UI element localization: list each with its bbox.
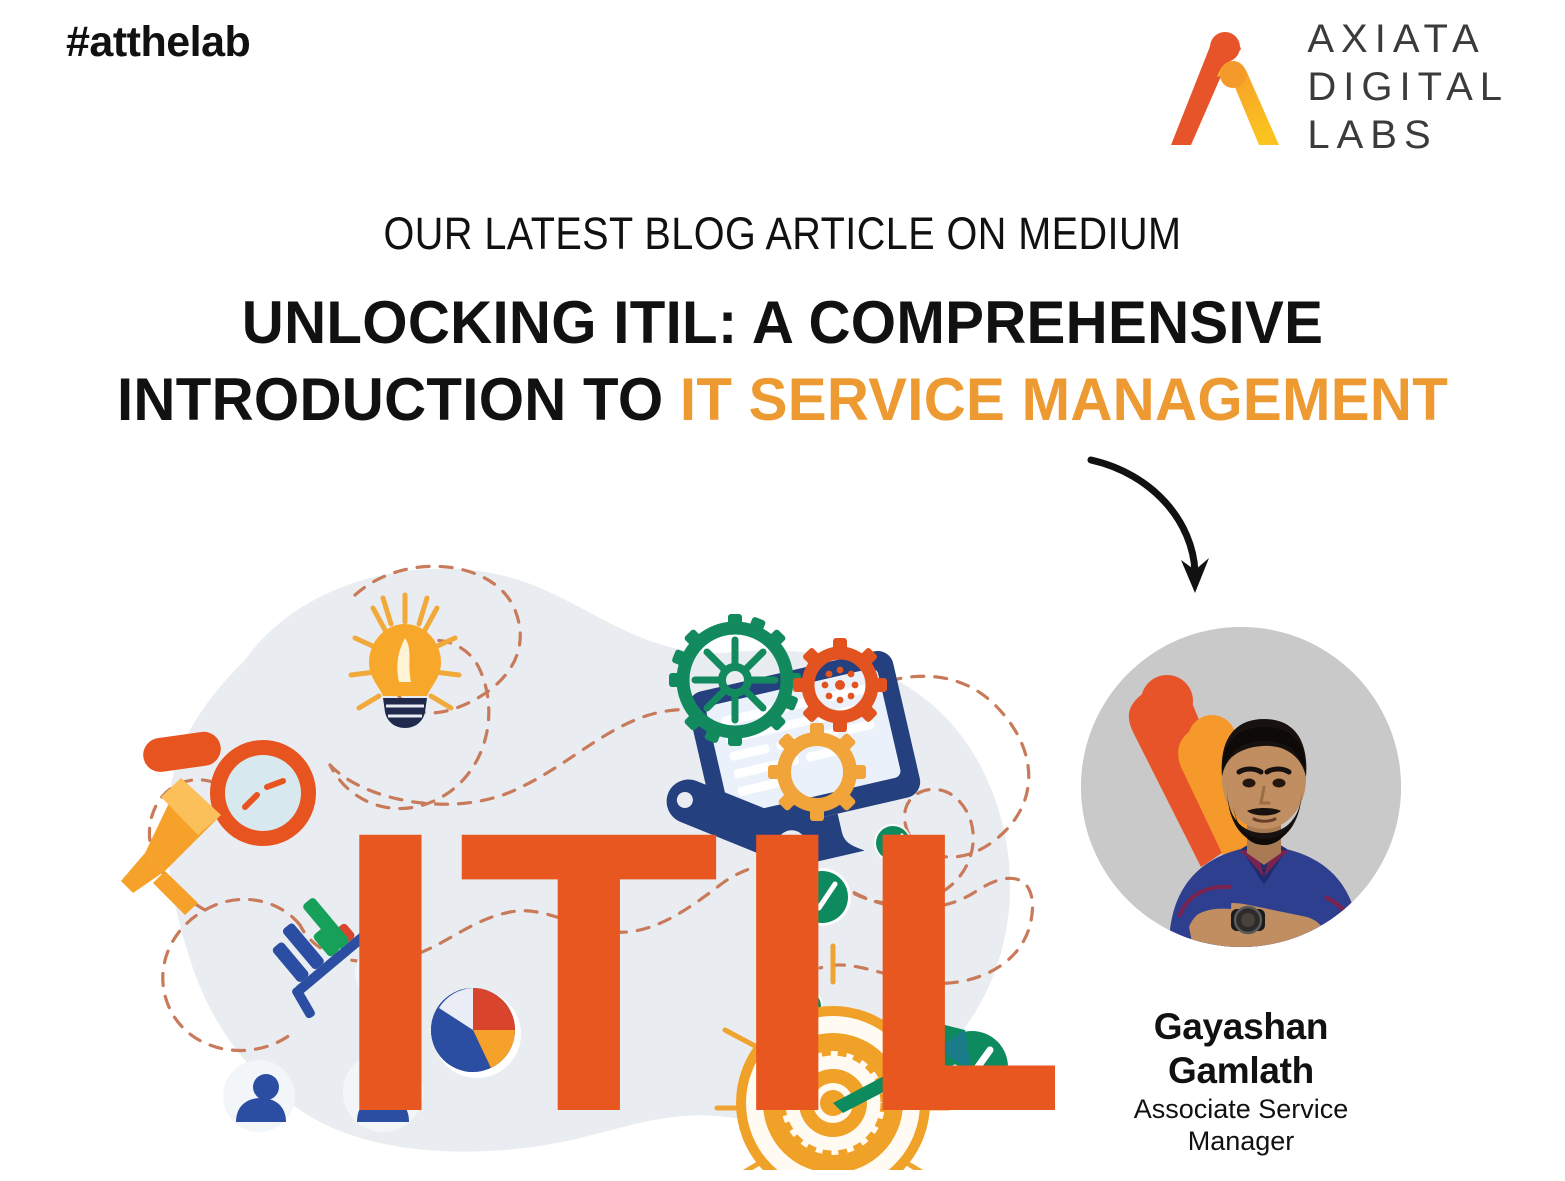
hashtag-label: #atthelab	[66, 18, 250, 67]
brand-logo: AXIATA DIGITAL LABS	[1169, 16, 1509, 160]
logo-line-1: AXIATA	[1307, 16, 1509, 63]
axiata-a-mark-icon	[1169, 27, 1281, 149]
person-name-line-2: Gamlath	[1168, 1050, 1314, 1091]
headline-line-1: UNLOCKING ITIL: A COMPREHENSIVE	[242, 289, 1323, 356]
page-title: UNLOCKING ITIL: A COMPREHENSIVE INTRODUC…	[62, 285, 1502, 439]
avatar	[1081, 627, 1401, 947]
logo-line-3: LABS	[1307, 112, 1509, 159]
avatar-circle	[1081, 627, 1401, 947]
person-avatar-icon	[223, 1060, 295, 1132]
person-role-line-1: Associate Service	[1134, 1094, 1349, 1124]
person-name: Gayashan Gamlath	[1041, 1005, 1441, 1092]
curved-arrow-icon	[1085, 452, 1225, 612]
itil-wordmark: ITIL	[330, 749, 1055, 1170]
person-role-line-2: Manager	[1188, 1126, 1295, 1156]
headline-line-2-plain: INTRODUCTION TO	[117, 366, 680, 433]
logo-line-2: DIGITAL	[1307, 64, 1509, 111]
brand-logo-text: AXIATA DIGITAL LABS	[1307, 16, 1509, 160]
headline-line-2-accent: IT SERVICE MANAGEMENT	[680, 366, 1448, 433]
person-name-line-1: Gayashan	[1154, 1006, 1328, 1047]
person-role: Associate Service Manager	[1041, 1093, 1441, 1158]
itil-illustration: ITIL	[55, 540, 1055, 1170]
wristwatch	[1231, 907, 1265, 933]
eyebrow-text: OUR LATEST BLOG ARTICLE ON MEDIUM	[94, 208, 1471, 260]
gear-orange-icon	[793, 638, 887, 732]
